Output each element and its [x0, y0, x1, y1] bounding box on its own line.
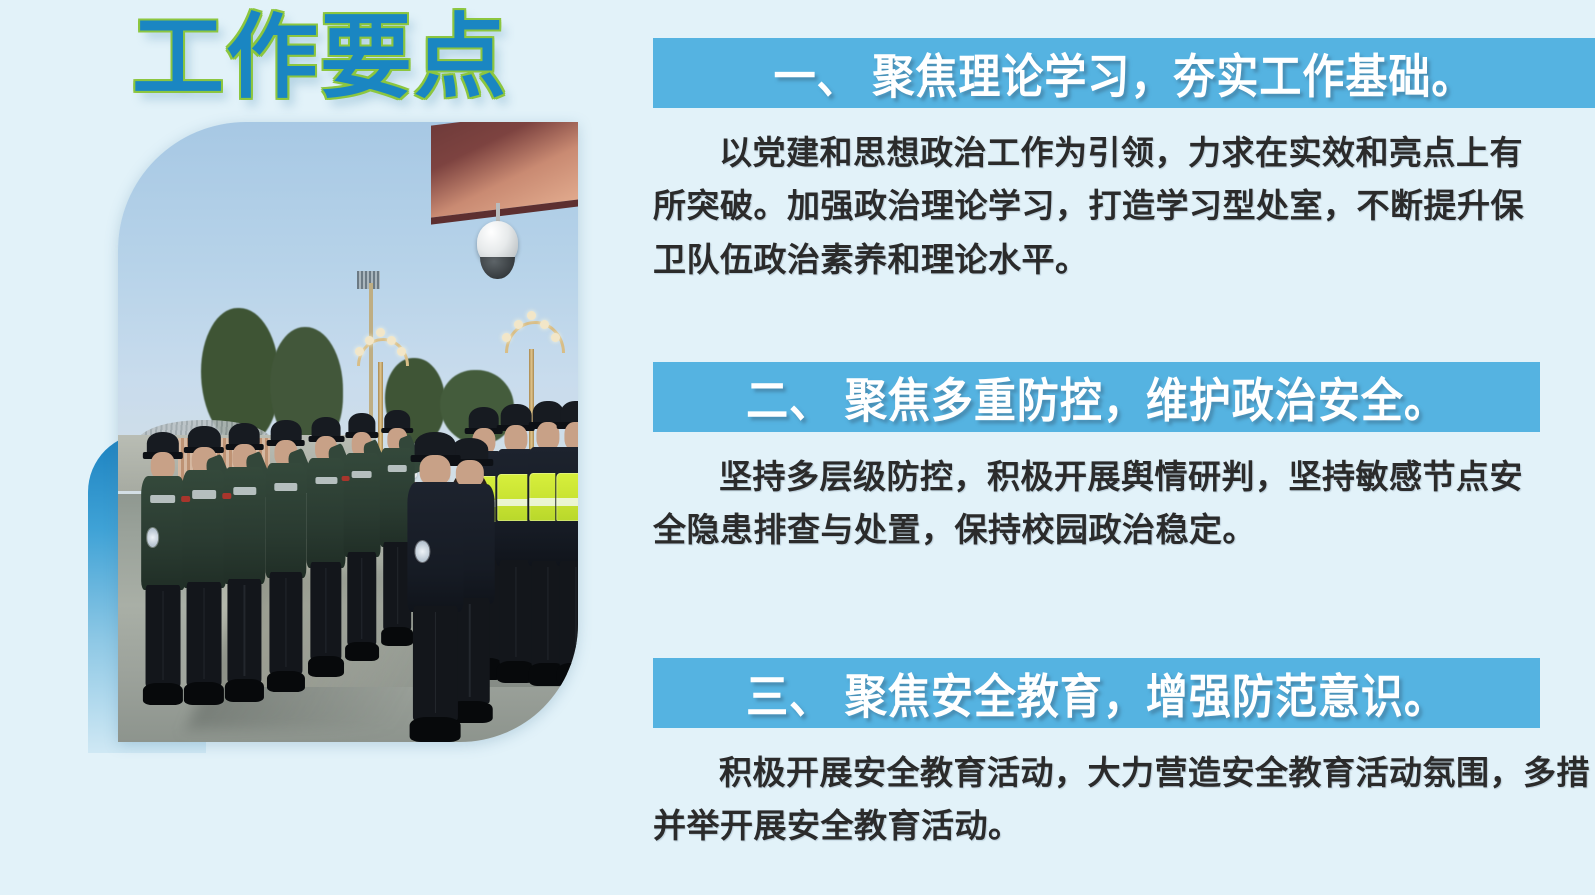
section-one-body: 以党建和思想政治工作为引领，力求在实效和亮点上有所突破。加强政治理论学习，打造学…	[653, 126, 1553, 286]
building-eave	[431, 122, 578, 225]
section-three: 三、 聚焦安全教育，增强防范意识。 积极开展安全教育活动，大力营造安全教育活动氛…	[653, 658, 1595, 853]
section-three-title: 三、 聚焦安全教育，增强防范意识。	[746, 659, 1447, 727]
right-column: 一、 聚焦理论学习，夯实工作基础。 以党建和思想政治工作为引领，力求在实效和亮点…	[653, 0, 1595, 895]
section-three-body: 积极开展安全教育活动，大力营造安全教育活动氛围，多措并举开展安全教育活动。	[653, 746, 1595, 853]
left-column: 工作要点	[0, 0, 640, 895]
guard-figure	[141, 432, 185, 705]
section-two: 二、 聚焦多重防控，维护政治安全。 坚持多层级防控，积极开展舆情研判，坚持敏感节…	[653, 362, 1595, 557]
section-one-header-bar: 一、 聚焦理论学习，夯实工作基础。	[653, 38, 1595, 108]
team-photo	[118, 122, 578, 742]
guard-figure	[343, 413, 380, 661]
poster-canvas: 工作要点	[0, 0, 1595, 895]
guard-figure	[307, 417, 346, 677]
section-two-header-bar: 二、 聚焦多重防控，维护政治安全。	[653, 362, 1540, 432]
section-one-title: 一、 聚焦理论学习，夯实工作基础。	[774, 39, 1475, 107]
page-title: 工作要点	[0, 10, 640, 107]
photo-scene	[118, 122, 578, 742]
surveillance-camera-icon	[477, 221, 518, 264]
section-one: 一、 聚焦理论学习，夯实工作基础。 以党建和思想政治工作为引领，力求在实效和亮点…	[653, 38, 1595, 286]
guard-figure	[224, 423, 265, 702]
section-two-body: 坚持多层级防控，积极开展舆情研判，坚持敏感节点安全隐患排查与处置，保持校园政治稳…	[653, 450, 1543, 557]
section-two-title: 二、 聚焦多重防控，维护政治安全。	[746, 363, 1447, 431]
guard-figure	[182, 426, 226, 705]
guard-figure	[555, 401, 578, 686]
section-three-header-bar: 三、 聚焦安全教育，增强防范意识。	[653, 658, 1540, 728]
guard-figure	[265, 420, 306, 693]
guard-figure-foreground	[408, 432, 463, 742]
